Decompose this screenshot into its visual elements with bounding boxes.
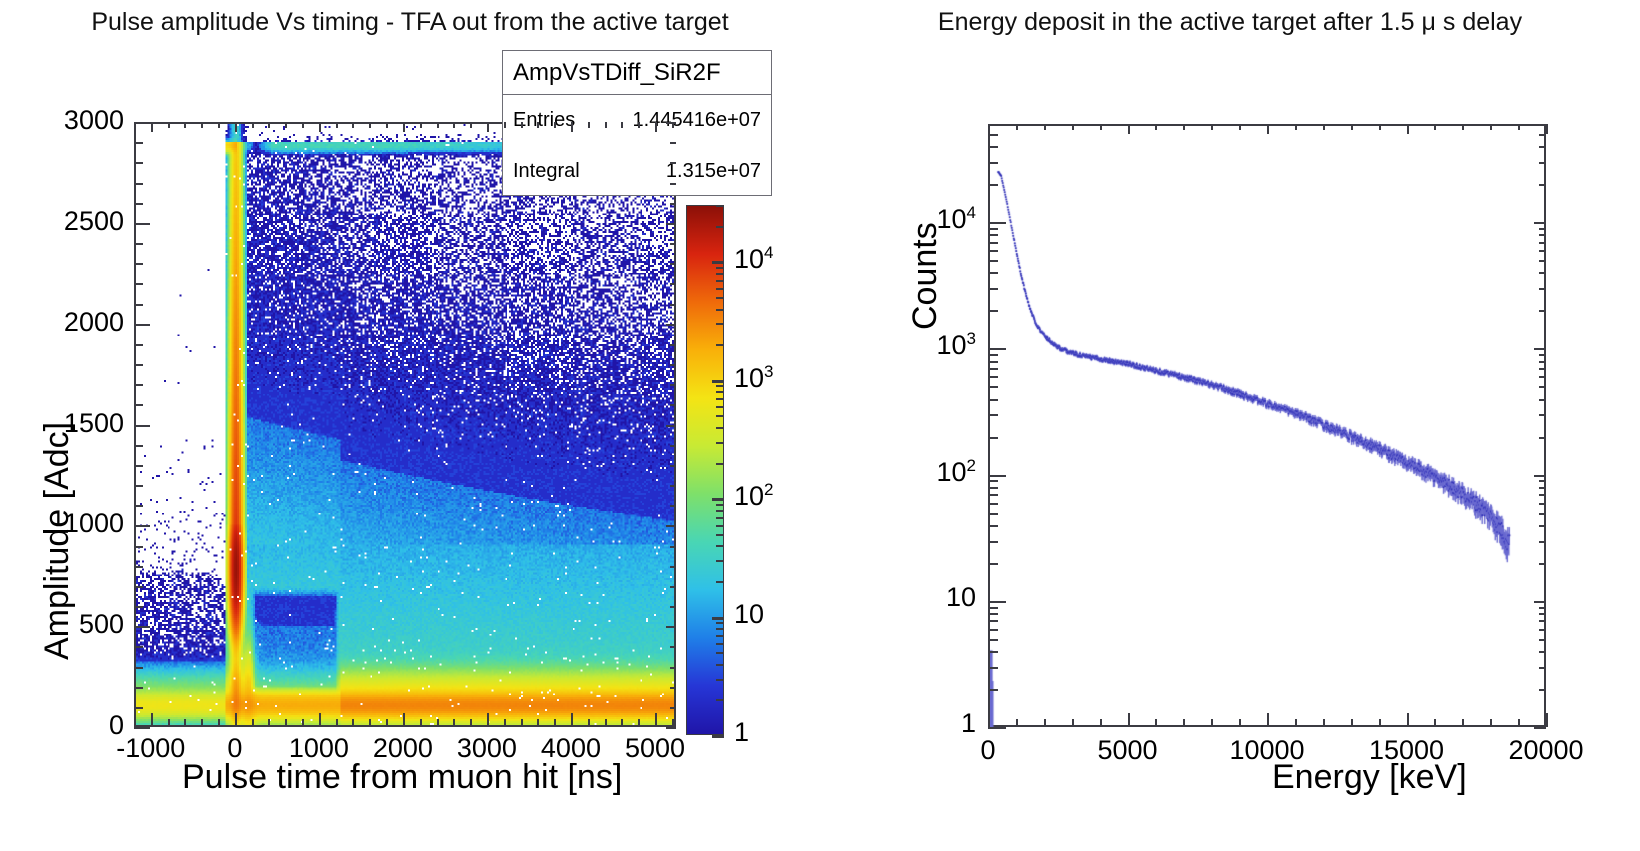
tick-mark	[1539, 250, 1546, 252]
tick-mark	[134, 404, 143, 406]
tick-mark	[201, 122, 203, 128]
tick-mark	[988, 222, 1006, 224]
tick-mark	[504, 719, 506, 727]
tick-mark	[1539, 487, 1546, 489]
tick-mark	[420, 719, 422, 727]
tick-mark	[1016, 719, 1018, 727]
tick-mark	[1351, 719, 1353, 727]
tick-mark	[988, 503, 998, 505]
tick-label: 3000	[64, 105, 124, 136]
tick-label: 103	[734, 362, 774, 394]
tick-mark	[988, 414, 998, 416]
tick-mark	[134, 142, 143, 144]
tick-mark	[716, 280, 724, 282]
tick-mark	[1539, 134, 1546, 136]
tick-label: 0	[980, 735, 995, 766]
y-axis-title-left: Amplitude [Adc]	[38, 422, 77, 660]
tick-mark	[716, 664, 724, 666]
tick-mark	[670, 203, 676, 205]
tick-mark	[151, 713, 153, 727]
tick-mark	[716, 510, 724, 512]
tick-mark	[605, 122, 607, 128]
tick-mark	[235, 122, 237, 132]
tick-mark	[369, 122, 371, 128]
tick-mark	[1462, 124, 1464, 130]
tick-mark	[184, 719, 186, 727]
tick-mark	[988, 541, 998, 543]
tick-mark	[672, 719, 674, 727]
tick-mark	[988, 184, 998, 186]
stats-box-left: AmpVsTDiff_SiR2F Entries 1.445416e+07 In…	[502, 50, 772, 196]
tick-mark	[134, 707, 143, 709]
tick-mark	[716, 699, 724, 701]
page-title-right: Energy deposit in the active target afte…	[820, 8, 1640, 37]
tick-mark	[716, 344, 724, 346]
tick-mark	[670, 162, 676, 164]
tick-mark	[670, 707, 676, 709]
tick-mark	[1539, 480, 1546, 482]
tick-mark	[1016, 124, 1018, 130]
tick-mark	[302, 122, 304, 128]
plot-frame-right	[988, 124, 1546, 727]
tick-mark	[1539, 146, 1546, 148]
tick-label: 1500	[64, 408, 124, 439]
tick-label: 0	[227, 733, 242, 764]
tick-mark	[403, 122, 405, 132]
tick-mark	[134, 283, 143, 285]
tick-mark	[638, 122, 640, 128]
tick-mark	[716, 622, 724, 624]
tick-mark	[336, 122, 338, 128]
tick-mark	[621, 122, 623, 128]
tick-mark	[437, 122, 439, 128]
tick-mark	[252, 719, 254, 727]
tick-mark	[1539, 386, 1546, 388]
tick-label: 5000	[1097, 735, 1157, 766]
tick-mark	[134, 344, 143, 346]
tick-mark	[252, 122, 254, 128]
tick-mark	[670, 546, 676, 548]
tick-mark	[1211, 124, 1213, 130]
tick-mark	[716, 205, 724, 207]
tick-mark	[1239, 124, 1241, 130]
tick-mark	[218, 122, 220, 128]
colorbar-gradient	[687, 206, 723, 734]
tick-mark	[134, 304, 143, 306]
tick-mark	[716, 415, 724, 417]
tick-mark	[716, 643, 724, 645]
tick-mark	[134, 465, 143, 467]
tick-mark	[1490, 719, 1492, 727]
tick-label: 20000	[1508, 735, 1583, 766]
tick-mark	[168, 719, 170, 727]
stats-key: Entries	[513, 109, 575, 132]
tick-mark	[134, 505, 143, 507]
stats-value: 1.445416e+07	[633, 109, 761, 132]
tick-mark	[988, 250, 998, 252]
tick-mark	[1044, 719, 1046, 727]
tick-mark	[988, 376, 998, 378]
tick-mark	[1518, 124, 1520, 130]
tick-mark	[988, 563, 998, 565]
tick-mark	[988, 620, 998, 622]
tick-mark	[134, 727, 150, 729]
tick-label: 104	[734, 243, 774, 275]
tick-label: 4000	[541, 733, 601, 764]
tick-mark	[670, 566, 676, 568]
tick-mark	[712, 380, 724, 383]
tick-mark	[1546, 124, 1548, 134]
tick-mark	[134, 566, 143, 568]
tick-mark	[716, 427, 724, 429]
tick-mark	[988, 639, 998, 641]
tick-mark	[988, 525, 998, 527]
tick-mark	[988, 134, 998, 136]
tick-mark	[716, 406, 724, 408]
tick-mark	[268, 122, 270, 128]
tick-mark	[168, 122, 170, 128]
tick-mark	[1534, 601, 1546, 603]
tick-mark	[521, 719, 523, 727]
tick-mark	[655, 122, 657, 132]
panel-energy-deposit: Energy deposit in the active target afte…	[820, 0, 1640, 851]
tick-mark	[1239, 719, 1241, 727]
tick-label: 103	[936, 329, 976, 361]
tick-mark	[504, 122, 506, 128]
tick-label: 10	[946, 582, 976, 613]
tick-mark	[1407, 124, 1409, 134]
tick-mark	[670, 404, 676, 406]
tick-mark	[1351, 124, 1353, 130]
tick-mark	[716, 288, 724, 290]
tick-mark	[1072, 719, 1074, 727]
tick-mark	[1323, 719, 1325, 727]
tick-mark	[716, 442, 724, 444]
tick-mark	[670, 646, 676, 648]
tick-mark	[319, 713, 321, 727]
tick-mark	[988, 228, 998, 230]
tick-mark	[537, 719, 539, 727]
tick-mark	[386, 122, 388, 128]
tick-mark	[1534, 348, 1546, 350]
tick-mark	[1539, 354, 1546, 356]
tick-mark	[666, 727, 676, 729]
tick-mark	[988, 272, 998, 274]
tick-mark	[1211, 719, 1213, 727]
tick-mark	[1128, 713, 1130, 727]
tick-mark	[666, 324, 676, 326]
tick-mark	[1539, 260, 1546, 262]
tick-mark	[1539, 310, 1546, 312]
tick-label: 500	[79, 609, 124, 640]
tick-mark	[988, 494, 998, 496]
tick-mark	[1539, 639, 1546, 641]
tick-mark	[666, 122, 676, 124]
tick-mark	[988, 437, 998, 439]
stats-title-left: AmpVsTDiff_SiR2F	[503, 51, 771, 95]
tick-mark	[655, 713, 657, 727]
tick-mark	[235, 713, 237, 727]
tick-mark	[134, 183, 143, 185]
tick-mark	[134, 203, 143, 205]
tick-mark	[571, 122, 573, 132]
page-title-left: Pulse amplitude Vs timing - TFA out from…	[0, 8, 820, 37]
tick-mark	[988, 146, 998, 148]
tick-mark	[134, 243, 143, 245]
tick-mark	[716, 391, 724, 393]
tick-mark	[670, 687, 676, 689]
tick-mark	[1539, 368, 1546, 370]
tick-mark	[487, 713, 489, 727]
tick-mark	[1407, 713, 1409, 727]
spectrum-canvas	[990, 126, 1548, 729]
tick-mark	[403, 713, 405, 727]
tick-mark	[134, 606, 143, 608]
tick-mark	[1155, 124, 1157, 130]
tick-mark	[1462, 719, 1464, 727]
tick-mark	[988, 386, 998, 388]
tick-mark	[1267, 124, 1269, 134]
tick-mark	[712, 261, 724, 264]
tick-mark	[1539, 162, 1546, 164]
tick-mark	[386, 719, 388, 727]
tick-mark	[1295, 124, 1297, 130]
tick-mark	[1044, 124, 1046, 130]
tick-mark	[988, 399, 998, 401]
tick-mark	[1539, 667, 1546, 669]
tick-mark	[716, 652, 724, 654]
tick-mark	[1539, 242, 1546, 244]
tick-mark	[670, 142, 676, 144]
tick-label: -1000	[116, 733, 185, 764]
tick-mark	[716, 628, 724, 630]
tick-mark	[1100, 124, 1102, 130]
tick-mark	[134, 263, 143, 265]
tick-mark	[1539, 563, 1546, 565]
tick-mark	[716, 581, 724, 583]
tick-mark	[666, 525, 676, 527]
tick-mark	[134, 162, 143, 164]
tick-mark	[666, 626, 676, 628]
tick-label: 5000	[625, 733, 685, 764]
tick-mark	[1539, 437, 1546, 439]
tick-mark	[716, 534, 724, 536]
tick-mark	[1539, 184, 1546, 186]
tick-mark	[712, 498, 724, 501]
tick-mark	[134, 485, 143, 487]
tick-mark	[988, 354, 998, 356]
tick-mark	[716, 385, 724, 387]
tick-mark	[437, 719, 439, 727]
tick-mark	[268, 719, 270, 727]
tick-mark	[670, 364, 676, 366]
tick-mark	[670, 263, 676, 265]
tick-label: 0	[109, 710, 124, 741]
tick-mark	[716, 545, 724, 547]
tick-mark	[670, 586, 676, 588]
tick-mark	[988, 713, 990, 727]
tick-mark	[1072, 124, 1074, 130]
tick-label: 102	[734, 480, 774, 512]
tick-mark	[134, 586, 143, 588]
stats-row-integral-left: Integral 1.315e+07	[503, 146, 771, 197]
tick-mark	[134, 525, 150, 527]
tick-mark	[716, 517, 724, 519]
stats-value: 1.315e+07	[666, 160, 761, 183]
tick-mark	[1539, 124, 1546, 126]
tick-mark	[670, 606, 676, 608]
tick-mark	[716, 267, 724, 269]
tick-mark	[716, 463, 724, 465]
tick-mark	[988, 348, 1006, 350]
tick-mark	[670, 445, 676, 447]
tick-label: 2500	[64, 206, 124, 237]
tick-mark	[1539, 541, 1546, 543]
tick-mark	[988, 480, 998, 482]
tick-mark	[670, 667, 676, 669]
tick-label: 1000	[289, 733, 349, 764]
tick-mark	[1323, 124, 1325, 130]
tick-mark	[670, 304, 676, 306]
tick-mark	[285, 122, 287, 128]
tick-mark	[1534, 475, 1546, 477]
tick-mark	[1539, 376, 1546, 378]
tick-mark	[988, 475, 1006, 477]
tick-mark	[369, 719, 371, 727]
tick-mark	[1534, 222, 1546, 224]
tick-mark	[151, 122, 153, 132]
tick-mark	[716, 560, 724, 562]
tick-mark	[988, 601, 1006, 603]
tick-mark	[352, 122, 354, 128]
tick-mark	[988, 361, 998, 363]
tick-mark	[134, 546, 143, 548]
tick-mark	[134, 364, 143, 366]
tick-mark	[605, 719, 607, 727]
tick-mark	[134, 425, 150, 427]
tick-mark	[1379, 719, 1381, 727]
tick-mark	[666, 425, 676, 427]
tick-mark	[487, 122, 489, 132]
tick-mark	[134, 324, 150, 326]
tick-mark	[716, 635, 724, 637]
tick-mark	[716, 679, 724, 681]
tick-mark	[988, 613, 998, 615]
tick-mark	[988, 487, 998, 489]
tick-mark	[1539, 525, 1546, 527]
tick-mark	[470, 122, 472, 128]
tick-label: 104	[936, 203, 976, 235]
stats-row-entries-left: Entries 1.445416e+07	[503, 95, 771, 146]
tick-mark	[1539, 414, 1546, 416]
tick-label: 10	[734, 599, 764, 630]
tick-mark	[670, 384, 676, 386]
tick-mark	[716, 323, 724, 325]
tick-mark	[588, 719, 590, 727]
tick-mark	[988, 310, 998, 312]
tick-mark	[453, 719, 455, 727]
panel-amp-vs-time: Pulse amplitude Vs timing - TFA out from…	[0, 0, 820, 851]
tick-mark	[670, 344, 676, 346]
tick-mark	[716, 525, 724, 527]
tick-mark	[1546, 713, 1548, 727]
tick-label: 1000	[64, 508, 124, 539]
tick-label: 3000	[457, 733, 517, 764]
tick-mark	[1539, 629, 1546, 631]
tick-mark	[134, 223, 150, 225]
tick-label: 102	[936, 456, 976, 488]
tick-mark	[201, 719, 203, 727]
tick-label: 2000	[64, 307, 124, 338]
tick-mark	[1539, 234, 1546, 236]
tick-mark	[988, 260, 998, 262]
tick-mark	[1434, 124, 1436, 130]
tick-mark	[670, 505, 676, 507]
tick-mark	[1518, 719, 1520, 727]
tick-mark	[521, 122, 523, 128]
tick-mark	[988, 667, 998, 669]
tick-mark	[988, 727, 1006, 729]
tick-mark	[988, 651, 998, 653]
tick-mark	[1539, 513, 1546, 515]
colorbar	[686, 205, 724, 735]
tick-mark	[134, 667, 143, 669]
tick-label: 1	[734, 717, 749, 748]
tick-mark	[285, 719, 287, 727]
tick-mark	[134, 646, 143, 648]
tick-mark	[666, 223, 676, 225]
tick-mark	[352, 719, 354, 727]
tick-mark	[1155, 719, 1157, 727]
stats-key: Integral	[513, 160, 580, 183]
y-axis-title-right: Counts	[906, 222, 945, 330]
tick-mark	[1539, 399, 1546, 401]
tick-mark	[319, 122, 321, 132]
tick-mark	[470, 719, 472, 727]
tick-mark	[1100, 719, 1102, 727]
tick-mark	[134, 384, 143, 386]
tick-mark	[554, 719, 556, 727]
tick-mark	[134, 687, 143, 689]
tick-mark	[716, 273, 724, 275]
tick-mark	[218, 719, 220, 727]
tick-mark	[988, 629, 998, 631]
tick-mark	[988, 242, 998, 244]
tick-mark	[420, 122, 422, 128]
tick-mark	[1539, 288, 1546, 290]
tick-mark	[1128, 124, 1130, 134]
tick-mark	[1534, 727, 1546, 729]
tick-label: 15000	[1369, 735, 1444, 766]
heatmap-canvas	[136, 124, 674, 725]
tick-mark	[1183, 124, 1185, 130]
tick-mark	[1539, 689, 1546, 691]
tick-mark	[712, 617, 724, 620]
tick-mark	[1539, 620, 1546, 622]
tick-mark	[1490, 124, 1492, 130]
tick-mark	[537, 122, 539, 128]
tick-mark	[588, 122, 590, 128]
tick-mark	[670, 243, 676, 245]
tick-label: 1	[961, 708, 976, 739]
tick-mark	[670, 465, 676, 467]
tick-mark	[1539, 272, 1546, 274]
tick-mark	[1539, 361, 1546, 363]
tick-mark	[716, 504, 724, 506]
tick-mark	[1539, 651, 1546, 653]
tick-mark	[134, 445, 143, 447]
tick-mark	[1539, 613, 1546, 615]
